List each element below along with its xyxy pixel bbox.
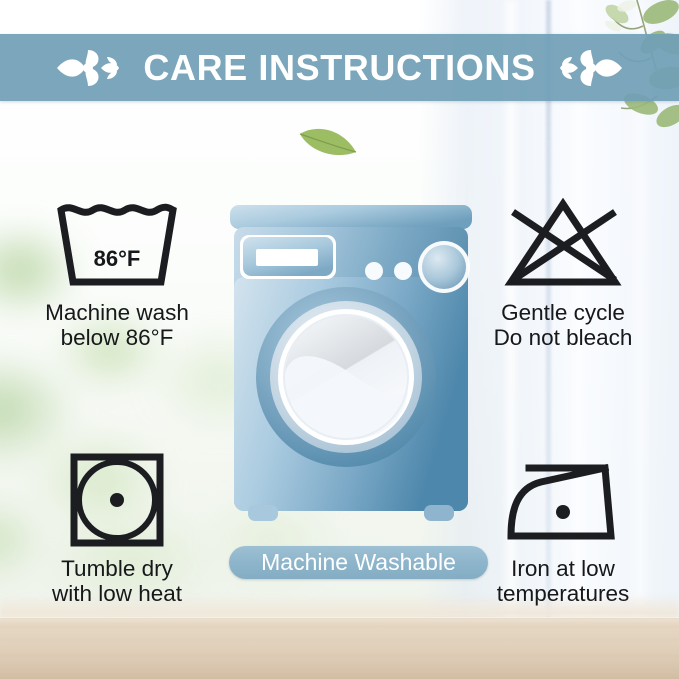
wooden-table-surface [0, 617, 679, 679]
care-symbol-slot [458, 448, 668, 552]
care-symbol-slot [12, 448, 222, 552]
care-item-tumble-dry: Tumble dry with low heat [12, 448, 222, 606]
header-banner: CARE INSTRUCTIONS [0, 34, 679, 101]
care-item-caption: Gentle cycle Do not bleach [458, 300, 668, 350]
care-symbol-slot [458, 192, 668, 296]
do-not-bleach-triangle-icon [499, 198, 627, 290]
tumble-dry-low-icon [69, 452, 165, 548]
care-item-caption: Machine wash below 86°F [12, 300, 222, 350]
page-title: CARE INSTRUCTIONS [143, 50, 535, 86]
fleur-de-lis-icon-left [55, 47, 121, 89]
machine-washable-badge: Machine Washable [229, 546, 488, 579]
care-instructions-page: CARE INSTRUCTIONS [0, 0, 679, 679]
care-item-do-not-bleach: Gentle cycle Do not bleach [458, 192, 668, 350]
care-symbol-slot: 86°F [12, 192, 222, 296]
care-item-caption: Tumble dry with low heat [12, 556, 222, 606]
machine-washable-label: Machine Washable [261, 551, 456, 574]
washing-machine-illustration [228, 205, 474, 535]
iron-low-heat-icon [501, 454, 625, 546]
care-item-machine-wash: 86°F Machine wash below 86°F [12, 192, 222, 350]
care-item-iron-low: Iron at low temperatures [458, 448, 668, 606]
wash-tub-icon [53, 200, 181, 288]
wash-temperature-label: 86°F [53, 246, 181, 272]
care-item-caption: Iron at low temperatures [458, 556, 668, 606]
fleur-de-lis-icon-right [558, 47, 624, 89]
